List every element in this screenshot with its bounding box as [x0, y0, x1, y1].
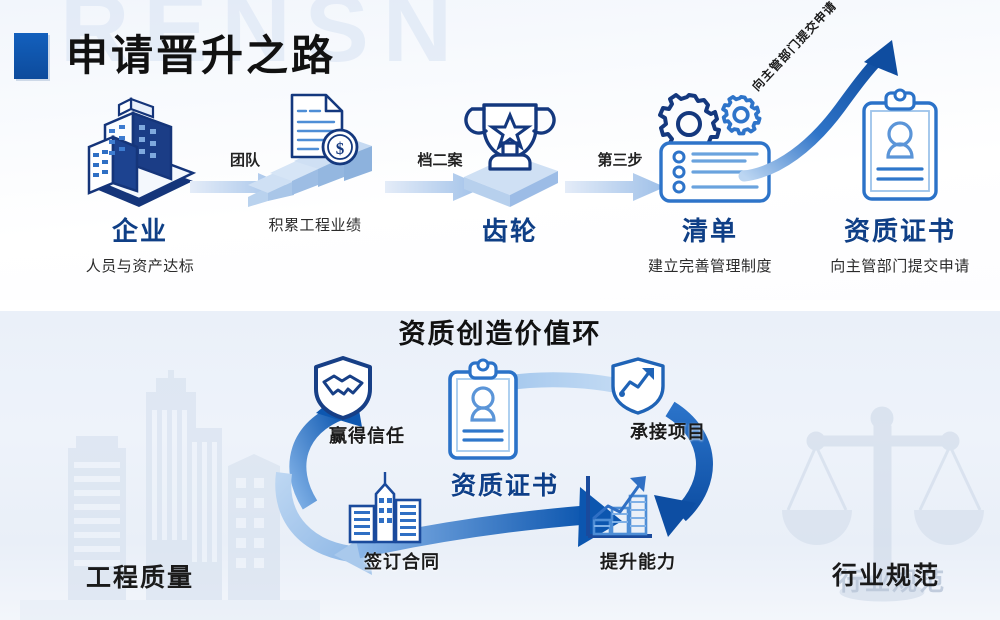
- step-2-subtitle: 积累工程业绩: [225, 214, 405, 235]
- cycle-node-capability[interactable]: 提升能力: [578, 468, 698, 574]
- flow-step-5[interactable]: 资质证书 向主管部门提交申请: [805, 95, 995, 276]
- step-4-title: 清单: [615, 211, 805, 248]
- shield-handshake-icon: [312, 356, 374, 420]
- page-header: 申请晋升之路: [14, 33, 336, 79]
- cycle-node-projects-label: 承接项目: [608, 418, 728, 444]
- document-money-stairs-icon: $: [240, 89, 390, 207]
- bar-chart-growth-icon: [578, 468, 658, 546]
- step-3-title: 齿轮: [425, 211, 595, 248]
- step-2-icon-area: $: [225, 95, 405, 207]
- cycle-node-trust-label: 赢得信任: [312, 422, 422, 448]
- header-accent-square: [14, 33, 48, 79]
- page-title: 申请晋升之路: [66, 35, 336, 77]
- step-1-subtitle: 人员与资产达标: [55, 255, 225, 276]
- step-4-subtitle: 建立完善管理制度: [615, 255, 805, 276]
- svg-text:$: $: [336, 139, 345, 158]
- city-buildings-icon: [342, 472, 428, 546]
- cycle-node-capability-label: 提升能力: [578, 548, 698, 574]
- promotion-flow: 企业 人员与资产达标 团队: [0, 95, 1000, 305]
- step-5-icon-area: [805, 95, 995, 207]
- cycle-node-projects[interactable]: 承接项目: [608, 356, 728, 444]
- step-5-title: 资质证书: [805, 211, 995, 248]
- cycle-section-title: 资质创造价值环: [0, 312, 1000, 351]
- flow-step-2[interactable]: $ 积累工程业绩: [225, 95, 405, 235]
- certificate-clipboard-icon: [850, 89, 950, 207]
- office-building-icon: [75, 95, 205, 207]
- cycle-center-label: 资质证书: [440, 466, 570, 502]
- watermark-left-label: 工程质量: [86, 558, 194, 594]
- cycle-node-contract-label: 签订合同: [342, 548, 462, 574]
- shield-growth-icon: [608, 356, 668, 416]
- cycle-node-trust[interactable]: 赢得信任: [312, 356, 422, 448]
- watermark-right-label: 行业规范: [832, 556, 940, 592]
- trophy-icon: [440, 89, 580, 207]
- cycle-center-certificate[interactable]: 资质证书: [440, 360, 570, 502]
- certificate-clipboard-icon: [440, 360, 526, 464]
- infographic-canvas: RENSN 申请晋升之路: [0, 0, 1000, 620]
- step-5-subtitle: 向主管部门提交申请: [805, 255, 995, 276]
- step-1-title: 企业: [55, 211, 225, 248]
